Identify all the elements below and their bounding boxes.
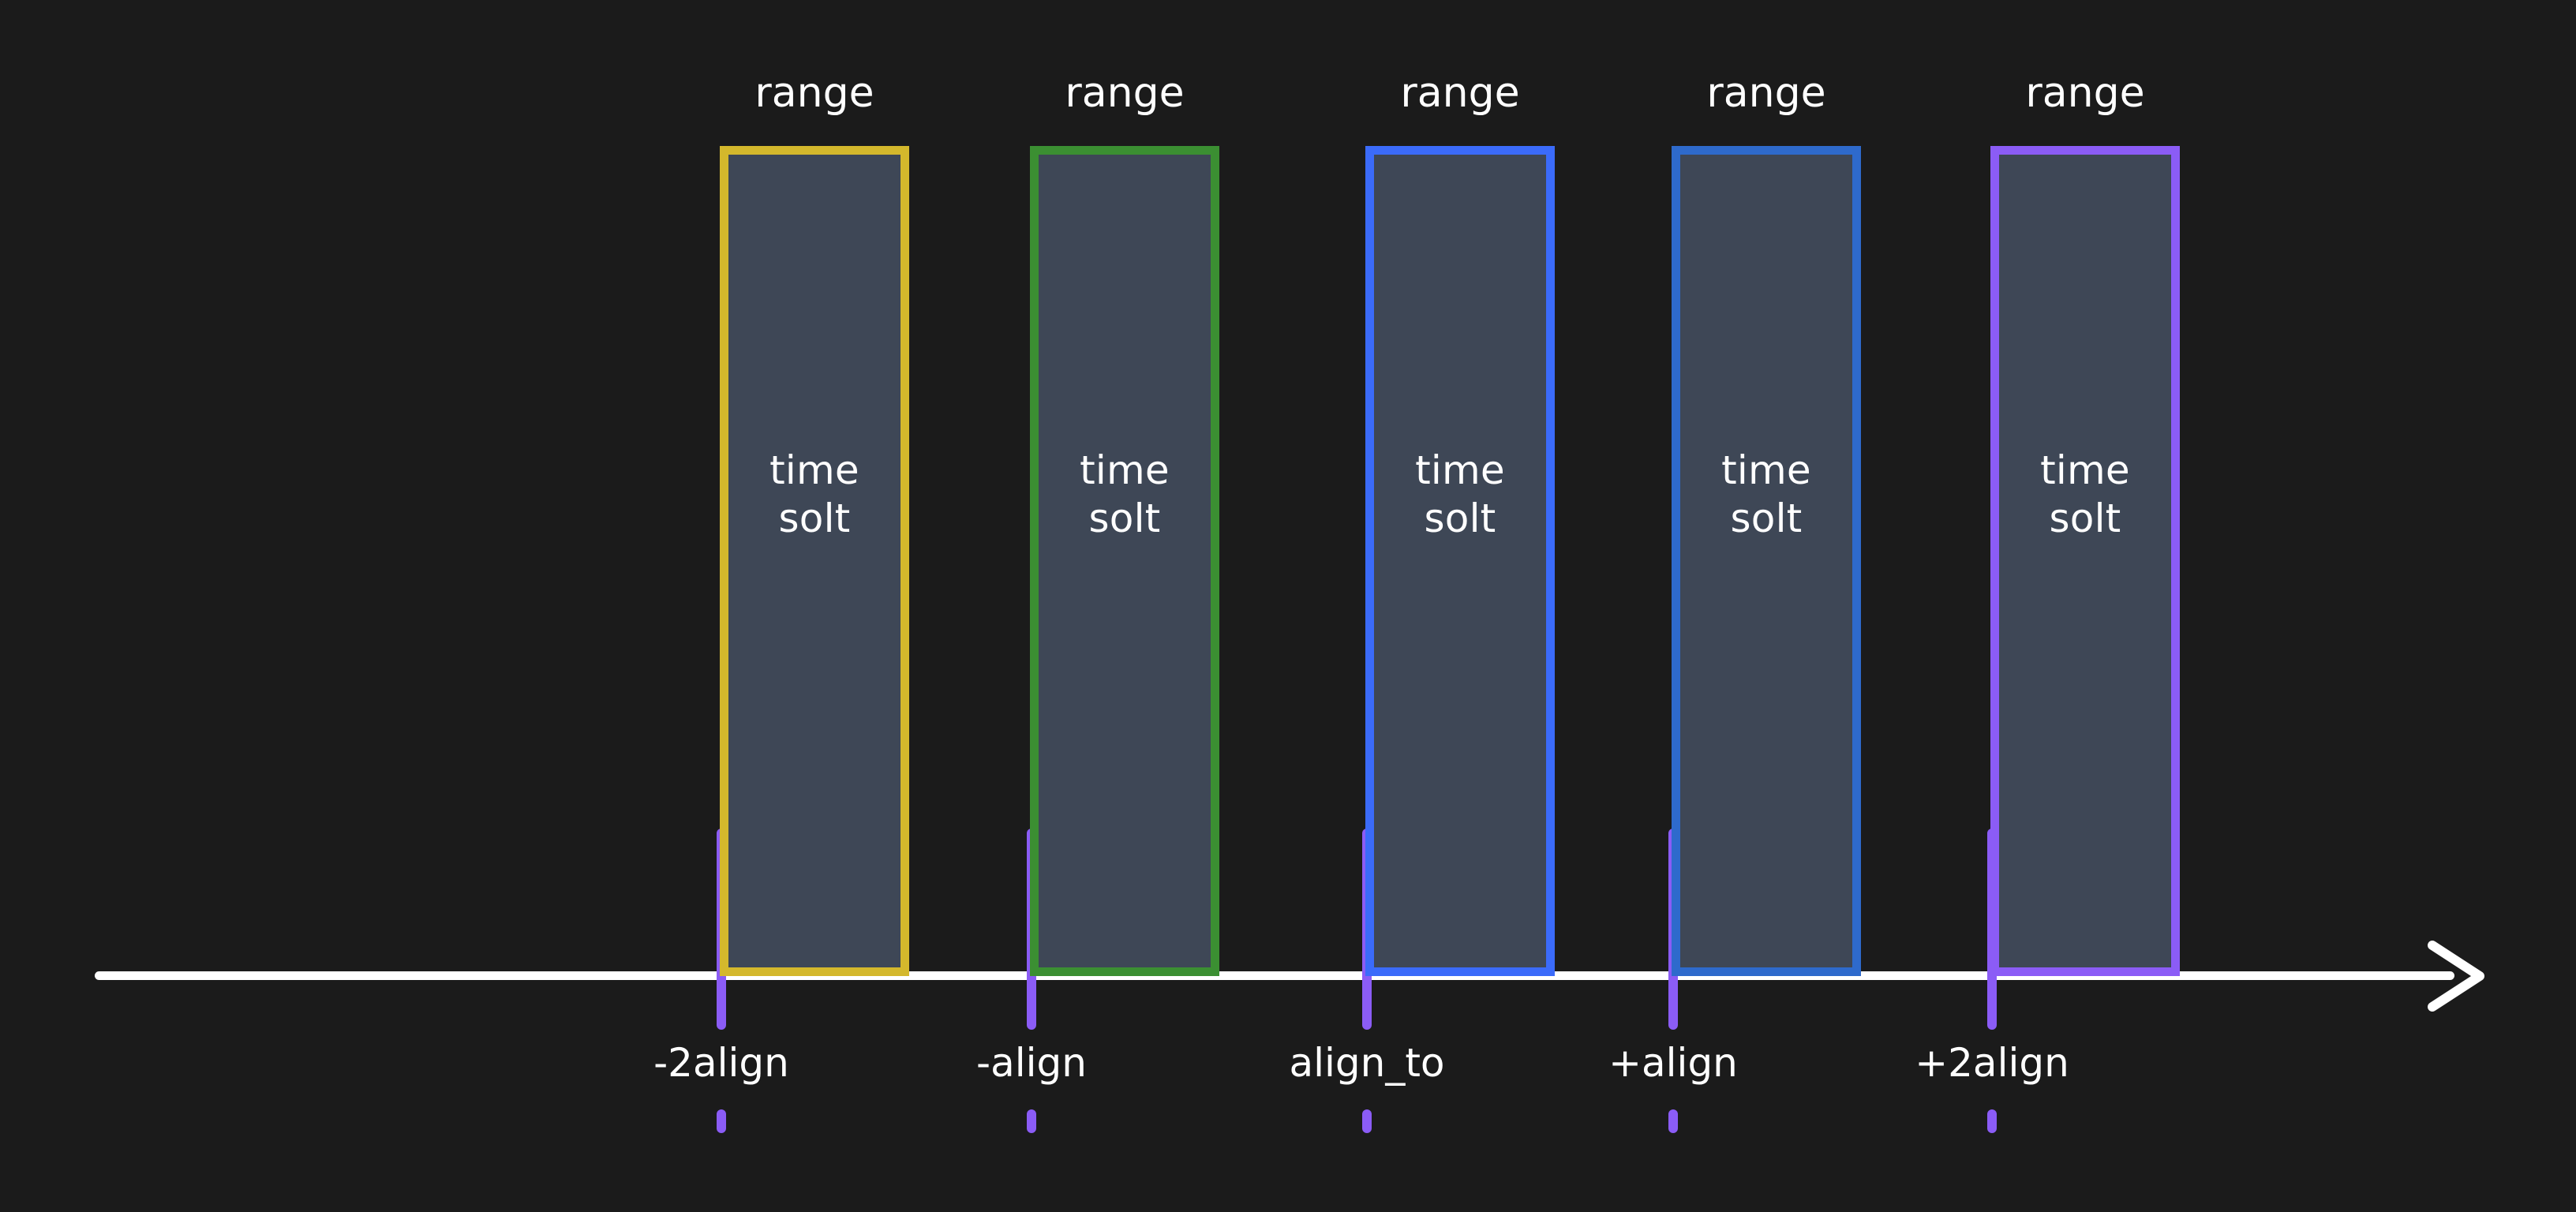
time-slot-label: time solt [1374, 447, 1546, 543]
axis-tick-lower-3 [1668, 976, 1678, 1030]
axis-tick-label: +2align [1755, 1043, 2229, 1083]
range-label: range [1365, 73, 1555, 114]
axis-tick-dash-3 [1668, 1109, 1678, 1133]
range-label: range [720, 73, 909, 114]
axis-tick-dash-0 [717, 1109, 726, 1133]
axis-tick-lower-1 [1027, 976, 1036, 1030]
range-label: range [1030, 73, 1219, 114]
range-label: range [1990, 73, 2180, 114]
time-slot-box[interactable]: time solt [1365, 146, 1555, 976]
time-slot-label: time solt [1039, 447, 1211, 543]
time-slot-label: time solt [728, 447, 900, 543]
axis-tick-dash-4 [1987, 1109, 1997, 1133]
time-slot-label: time solt [1999, 447, 2171, 543]
diagram-canvas: time soltrange-2aligntime soltrange-alig… [0, 0, 2576, 1212]
time-slot-box[interactable]: time solt [720, 146, 909, 976]
range-label: range [1672, 73, 1861, 114]
axis-tick-lower-0 [717, 976, 726, 1030]
axis-tick-lower-2 [1362, 976, 1372, 1030]
axis-tick-lower-4 [1987, 976, 1997, 1030]
time-slot-box[interactable]: time solt [1030, 146, 1219, 976]
time-slot-box[interactable]: time solt [1990, 146, 2180, 976]
time-slot-label: time solt [1680, 447, 1852, 543]
time-slot-box[interactable]: time solt [1672, 146, 1861, 976]
axis-tick-dash-1 [1027, 1109, 1036, 1133]
axis-tick-dash-2 [1362, 1109, 1372, 1133]
